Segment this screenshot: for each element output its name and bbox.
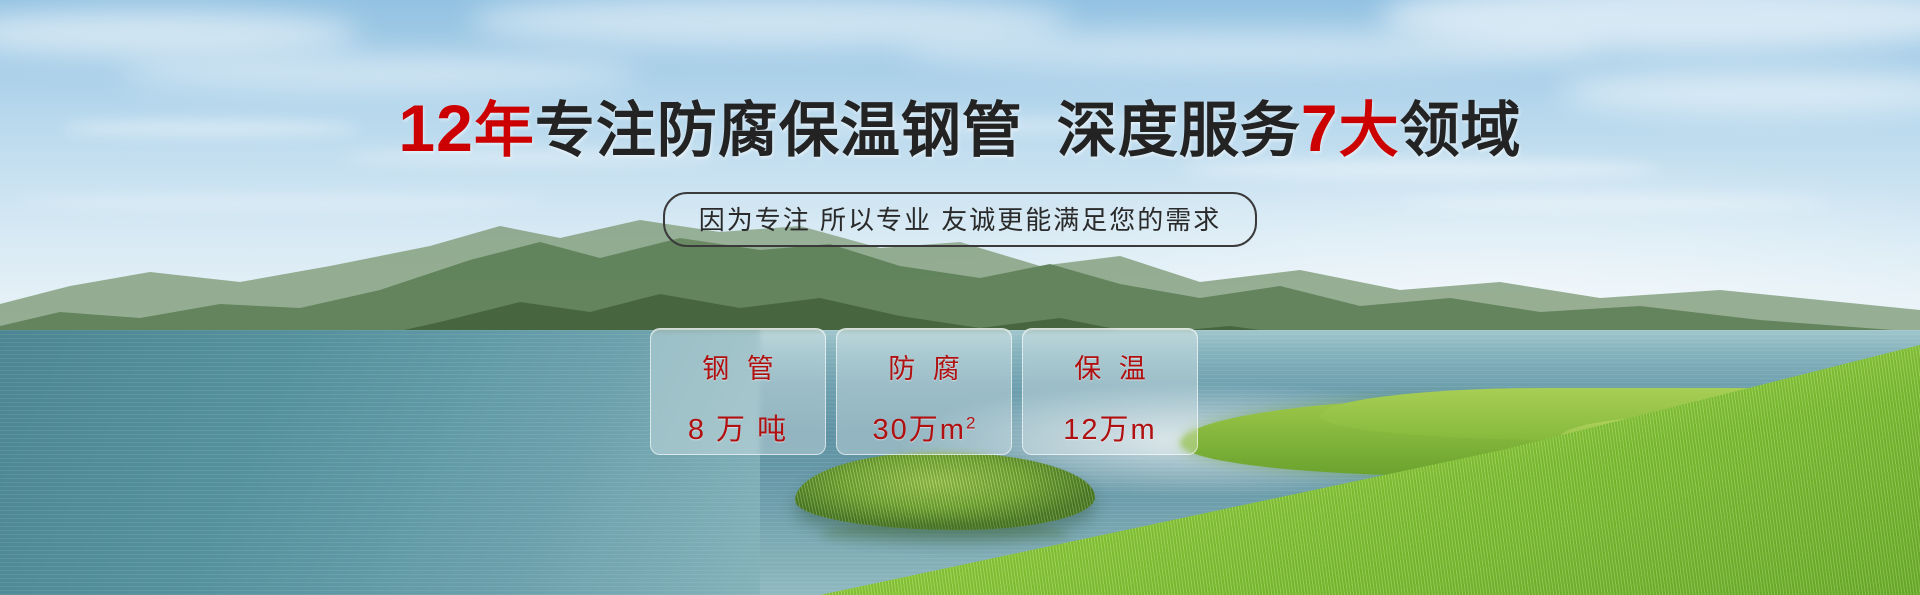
stat-card-value-superscript: 2: [966, 413, 975, 432]
stat-card-value-text: 30万m: [873, 414, 966, 446]
headline-years-number: 12: [398, 91, 473, 165]
stat-card[interactable]: 保 温 12万m: [1022, 328, 1198, 455]
subtitle-pill: 因为专注 所以专业 友诚更能满足您的需求: [663, 192, 1257, 247]
headline: 12年专注防腐保温钢管深度服务7大领域: [0, 94, 1920, 165]
stat-card[interactable]: 防 腐 30万m2: [836, 328, 1012, 455]
stat-card-value: 30万m2: [873, 406, 976, 448]
stat-card-label: 防 腐: [883, 347, 965, 386]
headline-fields-number: 7: [1301, 91, 1339, 165]
stat-card-label: 保 温: [1069, 347, 1151, 386]
stat-card-group: 钢 管 8 万 吨 防 腐 30万m2 保 温 12万m: [650, 328, 1198, 455]
cloud-shape: [120, 56, 640, 90]
hero-banner: 12年专注防腐保温钢管深度服务7大领域 因为专注 所以专业 友诚更能满足您的需求…: [0, 0, 1920, 595]
stat-card-value: 8 万 吨: [688, 406, 788, 448]
headline-fields-unit: 大: [1339, 97, 1400, 164]
headline-fields-word: 领域: [1400, 97, 1522, 164]
headline-years-unit: 年: [474, 97, 535, 164]
stat-card[interactable]: 钢 管 8 万 吨: [650, 328, 826, 455]
subtitle-wrapper: 因为专注 所以专业 友诚更能满足您的需求: [0, 192, 1920, 247]
stat-card-label: 钢 管: [697, 347, 779, 386]
stat-card-value: 12万m: [1063, 406, 1156, 448]
headline-main-phrase: 专注防腐保温钢管: [535, 97, 1023, 164]
headline-service-phrase: 深度服务: [1057, 97, 1301, 164]
island-reflection: [820, 522, 1070, 548]
